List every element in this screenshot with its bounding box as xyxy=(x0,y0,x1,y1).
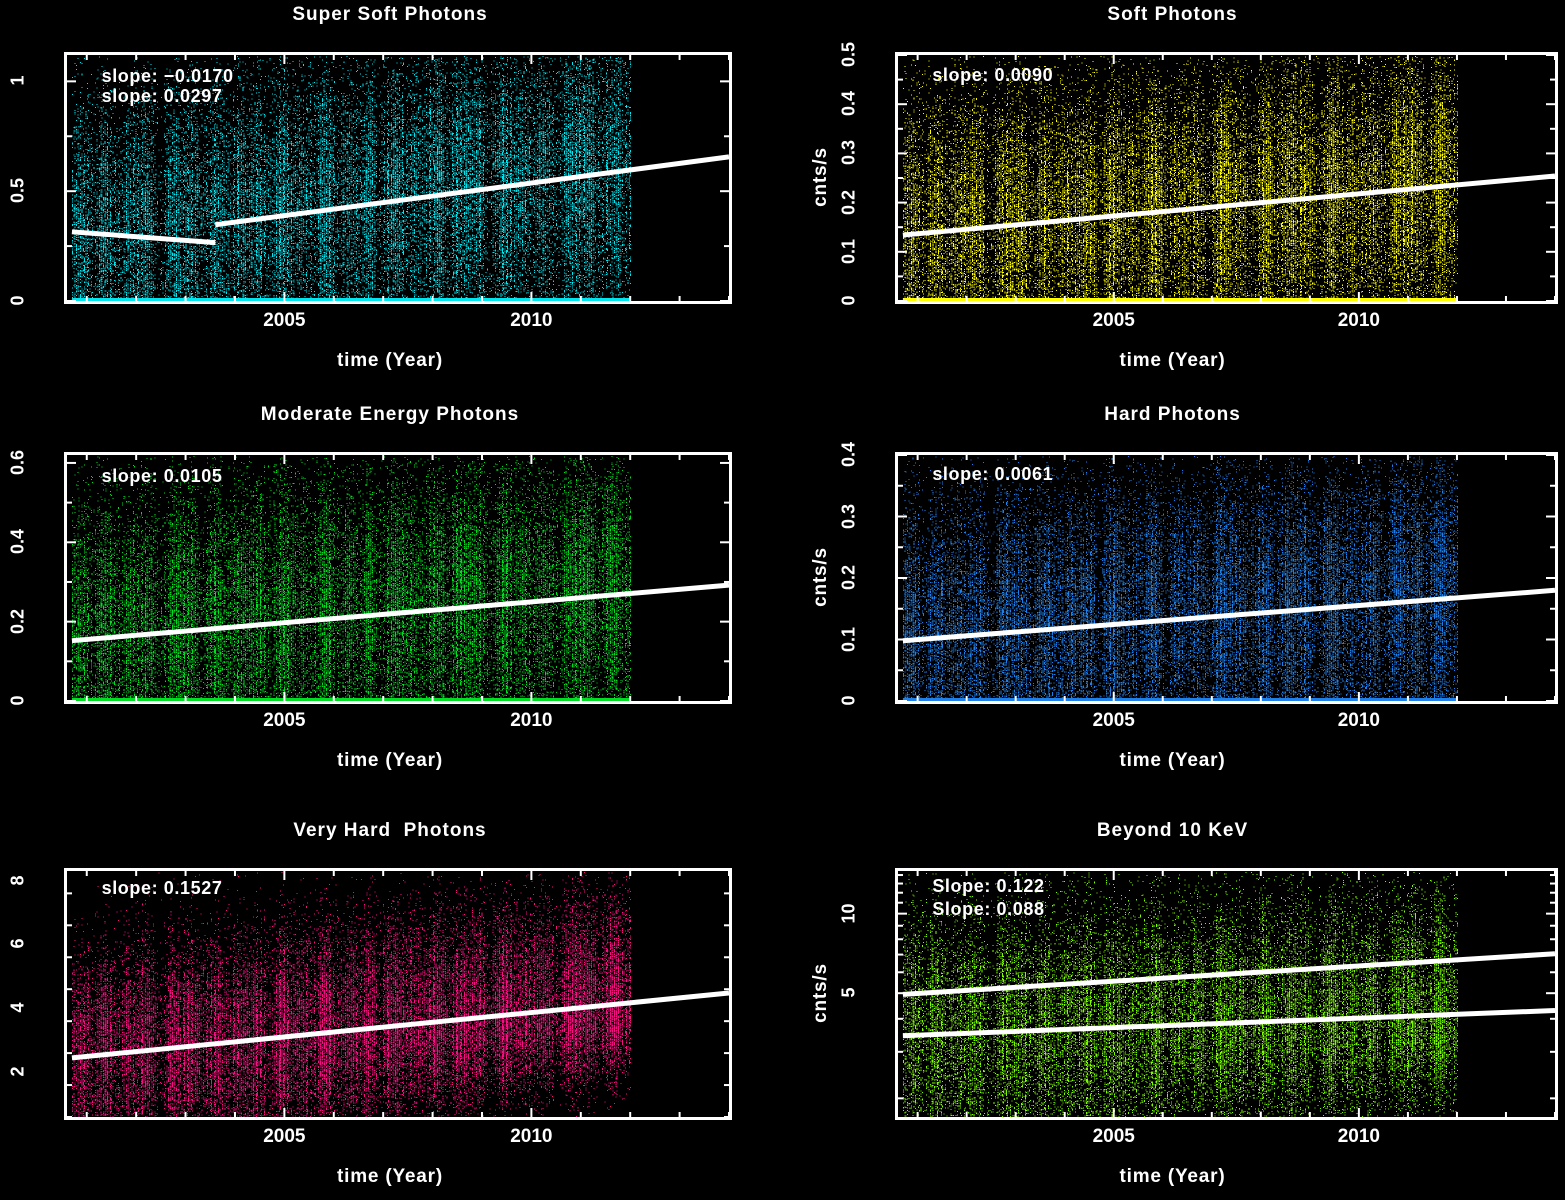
x-tick-label: 2005 xyxy=(239,710,329,732)
zero-pileup-band xyxy=(903,298,1457,301)
plot-area: Slope: 0.122Slope: 0.088 xyxy=(895,868,1558,1120)
y-tick-label: 0.4 xyxy=(839,420,860,490)
x-tick-label: 2010 xyxy=(486,710,576,732)
plot-area: slope: 0.1527 xyxy=(64,868,732,1120)
x-tick-label: 2010 xyxy=(1314,310,1404,332)
x-axis-title: time (Year) xyxy=(780,750,1565,772)
y-tick-label: 10 xyxy=(839,878,860,948)
y-axis-title: cnts/s xyxy=(810,117,832,237)
y-tick-label: 0.2 xyxy=(839,543,860,613)
x-axis-title: time (Year) xyxy=(0,750,780,772)
chart-panel-1: Super Soft Photonsslope: −0.0170slope: 0… xyxy=(0,0,780,400)
data-points xyxy=(903,456,1458,701)
plot-area: slope: −0.0170slope: 0.0297 xyxy=(64,52,732,304)
chart-panel-3: Moderate Energy Photonsslope: 0.010500.2… xyxy=(0,400,780,800)
x-axis-title: time (Year) xyxy=(0,1166,780,1188)
y-axis-title: cnts/s xyxy=(810,517,832,637)
data-points xyxy=(903,56,1458,301)
chart-panel-2: Soft Photonsslope: 0.009000.10.20.30.40.… xyxy=(780,0,1565,400)
x-tick-label: 2010 xyxy=(1314,710,1404,732)
y-tick-label: 8 xyxy=(8,845,29,915)
y-tick-label: 0.5 xyxy=(839,20,860,90)
data-points xyxy=(72,456,631,701)
y-tick-label: 0.6 xyxy=(8,427,29,497)
scatter-canvas xyxy=(67,455,729,701)
y-axis-title: cnts/s xyxy=(0,933,1,1053)
axis-ticks xyxy=(898,455,1555,701)
chart-panel-4: Hard Photonsslope: 0.006100.10.20.30.4cn… xyxy=(780,400,1565,800)
scatter-canvas xyxy=(898,455,1555,701)
y-tick-label: 0 xyxy=(8,266,29,336)
figure-canvas: Super Soft Photonsslope: −0.0170slope: 0… xyxy=(0,0,1565,1200)
zero-pileup-band xyxy=(903,698,1457,701)
y-tick-label: 5 xyxy=(839,958,860,1028)
x-axis-title: time (Year) xyxy=(780,350,1565,372)
chart-panel-5: Very Hard Photonsslope: 0.15272468cnts/s… xyxy=(0,800,780,1200)
zero-pileup-band xyxy=(72,698,630,701)
plot-area: slope: 0.0090 xyxy=(895,52,1558,304)
x-tick-label: 2010 xyxy=(486,1126,576,1148)
x-axis-title: time (Year) xyxy=(780,1166,1565,1188)
y-tick-label: 0.5 xyxy=(8,156,29,226)
data-points xyxy=(903,872,1458,1117)
y-tick-label: 0 xyxy=(839,666,860,736)
y-tick-label: 0 xyxy=(8,666,29,736)
x-axis-title: time (Year) xyxy=(0,350,780,372)
y-tick-label: 2 xyxy=(8,1037,29,1107)
scatter-canvas xyxy=(67,55,729,301)
x-tick-label: 2005 xyxy=(1069,1126,1159,1148)
axis-ticks xyxy=(898,55,1555,301)
x-tick-label: 2005 xyxy=(1069,310,1159,332)
x-tick-label: 2010 xyxy=(1314,1126,1404,1148)
plot-area: slope: 0.0105 xyxy=(64,452,732,704)
scatter-canvas xyxy=(898,871,1555,1117)
y-tick-label: 0.4 xyxy=(8,507,29,577)
y-tick-label: 1 xyxy=(8,46,29,116)
zero-pileup-band xyxy=(72,298,630,301)
y-tick-label: 4 xyxy=(8,973,29,1043)
data-points xyxy=(72,872,631,1117)
y-tick-label: 6 xyxy=(8,909,29,979)
scatter-canvas xyxy=(67,871,729,1117)
x-tick-label: 2005 xyxy=(1069,710,1159,732)
scatter-canvas xyxy=(898,55,1555,301)
y-axis-title: cnts/s xyxy=(0,117,1,237)
panel-title: Beyond 10 KeV xyxy=(780,820,1565,842)
x-tick-label: 2005 xyxy=(239,1126,329,1148)
panel-title: Very Hard Photons xyxy=(0,820,780,842)
axis-ticks xyxy=(898,871,1555,1117)
chart-panel-6: Beyond 10 KeVSlope: 0.122Slope: 0.088510… xyxy=(780,800,1565,1200)
panel-title: Hard Photons xyxy=(780,404,1565,426)
panel-title: Super Soft Photons xyxy=(0,4,780,26)
panel-title: Moderate Energy Photons xyxy=(0,404,780,426)
x-tick-label: 2010 xyxy=(486,310,576,332)
plot-area: slope: 0.0061 xyxy=(895,452,1558,704)
y-axis-title: cnts/s xyxy=(810,933,832,1053)
panel-title: Soft Photons xyxy=(780,4,1565,26)
y-tick-label: 0.3 xyxy=(839,481,860,551)
y-tick-label: 0.1 xyxy=(839,604,860,674)
y-tick-label: 0.2 xyxy=(8,586,29,656)
y-axis-title: cnts/s xyxy=(0,517,1,637)
x-tick-label: 2005 xyxy=(239,310,329,332)
